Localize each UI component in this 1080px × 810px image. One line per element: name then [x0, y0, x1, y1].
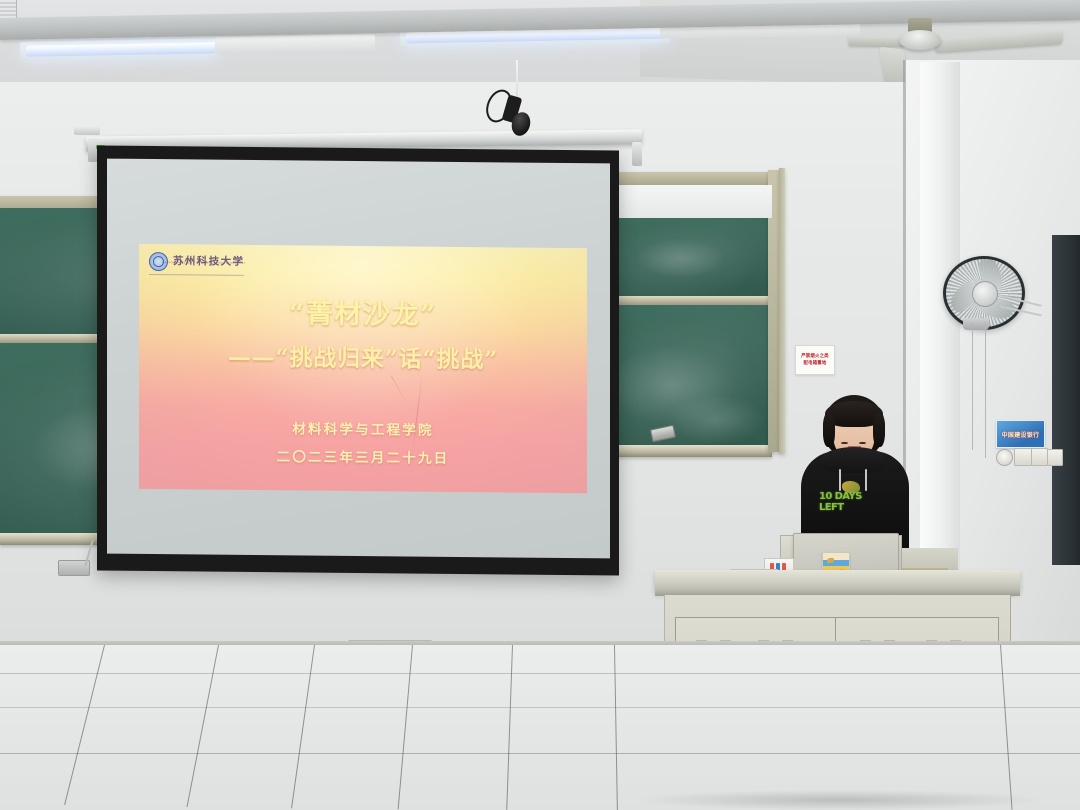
chalkboard-right-upper	[616, 218, 768, 296]
blue-poster-text: 中国建设银行	[1002, 430, 1040, 439]
light-housing	[215, 35, 375, 55]
power-outlet-icon[interactable]	[1031, 448, 1048, 466]
warning-sign: 严禁烟火之类 配电箱重地	[795, 345, 835, 375]
chalkboard-frame-right-outer	[779, 168, 785, 454]
projection-screen[interactable]: 苏州科技大学 SUZHOU UNIVERSITY OF SCIENCE AND …	[97, 145, 619, 575]
projection-screen-surface: 苏州科技大学 SUZHOU UNIVERSITY OF SCIENCE AND …	[107, 159, 610, 559]
presenter-hood	[821, 447, 887, 473]
power-outlet-icon[interactable]	[1014, 448, 1032, 466]
slide-subtitle: ——“挑战归来”话“挑战”	[139, 337, 587, 375]
fan-pull-cord[interactable]	[985, 322, 986, 458]
power-outlet-icon[interactable]	[996, 449, 1013, 466]
microphone-cable	[516, 60, 518, 102]
hoodie-graphic: 10 DAYS LEFT	[819, 485, 889, 513]
doorway	[1052, 235, 1080, 565]
board-upper-panel	[614, 185, 772, 218]
power-outlet-icon[interactable]	[1047, 449, 1063, 466]
screen-roller-cap	[632, 142, 642, 166]
ceiling-fan-icon	[899, 30, 941, 50]
slide-date: 二〇二三年三月二十九日	[139, 444, 587, 468]
chalkboard-ledge	[612, 445, 772, 457]
hoodie-text: 10 DAYS LEFT	[819, 491, 889, 513]
slide-organization: 材料科学与工程学院	[139, 416, 587, 440]
fan-pull-cord[interactable]	[972, 322, 973, 450]
chalkboard-rail	[616, 296, 768, 305]
screen-mount-bracket	[74, 126, 100, 135]
floor	[0, 645, 1080, 810]
warning-sign-line1: 严禁烟火之类	[801, 354, 829, 360]
chalkboard-frame-top	[614, 172, 772, 185]
classroom-photo-scene: 严禁烟火之类 配电箱重地 中国建设银行	[0, 0, 1080, 810]
blue-poster: 中国建设银行	[996, 420, 1045, 448]
warning-sign-line2: 配电箱重地	[804, 361, 827, 367]
ceiling-fan-blade	[848, 35, 907, 47]
presentation-slide: 苏州科技大学 SUZHOU UNIVERSITY OF SCIENCE AND …	[139, 244, 587, 493]
chalkboard-right-lower	[616, 305, 768, 445]
slide-title: “菁材沙龙”	[139, 290, 587, 333]
